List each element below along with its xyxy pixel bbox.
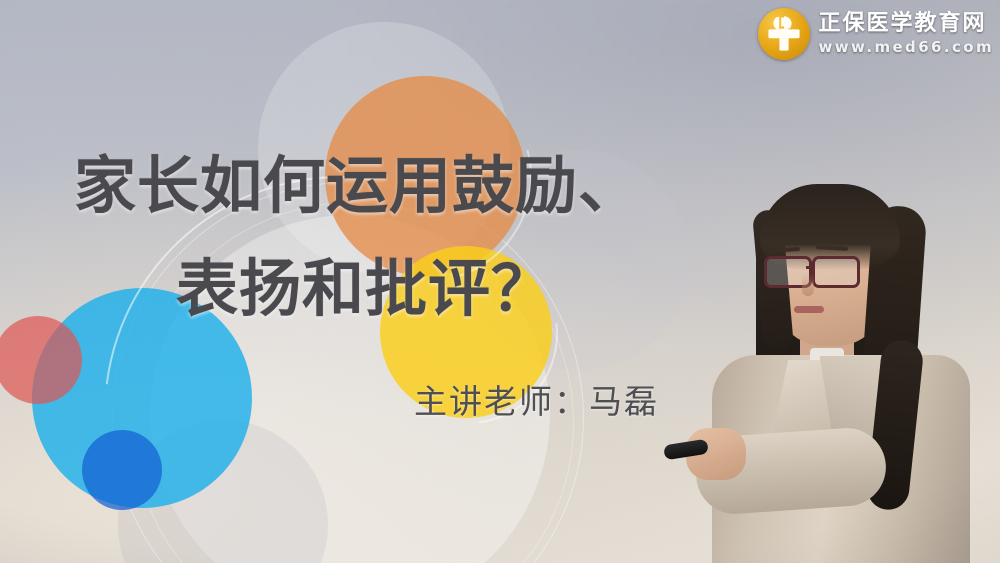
cross-circle-logo-icon (758, 8, 810, 60)
brand-watermark: 正保医学教育网 www.med66.com (758, 8, 994, 60)
presentation-slide: 家长如何运用鼓励、 表扬和批评？ 主讲老师：马磊 (0, 0, 700, 563)
glasses-bridge-icon (806, 266, 814, 269)
presenter-nose (802, 274, 814, 296)
presenter-figure (660, 170, 1000, 563)
slide-title-line-1: 家长如何运用鼓励、 (74, 135, 641, 225)
glasses-lens-right-icon (812, 256, 860, 288)
brand-name: 正保医学教育网 (819, 13, 994, 35)
slide-subtitle-presenter: 主讲老师：马磊 (414, 375, 659, 423)
brand-text-block: 正保医学教育网 www.med66.com (819, 13, 994, 55)
brand-url: www.med66.com (819, 40, 994, 55)
video-frame: 家长如何运用鼓励、 表扬和批评？ 主讲老师：马磊 (0, 0, 1000, 563)
presenter-mouth (794, 306, 824, 313)
slide-title-line-2: 表扬和批评？ (176, 238, 554, 328)
